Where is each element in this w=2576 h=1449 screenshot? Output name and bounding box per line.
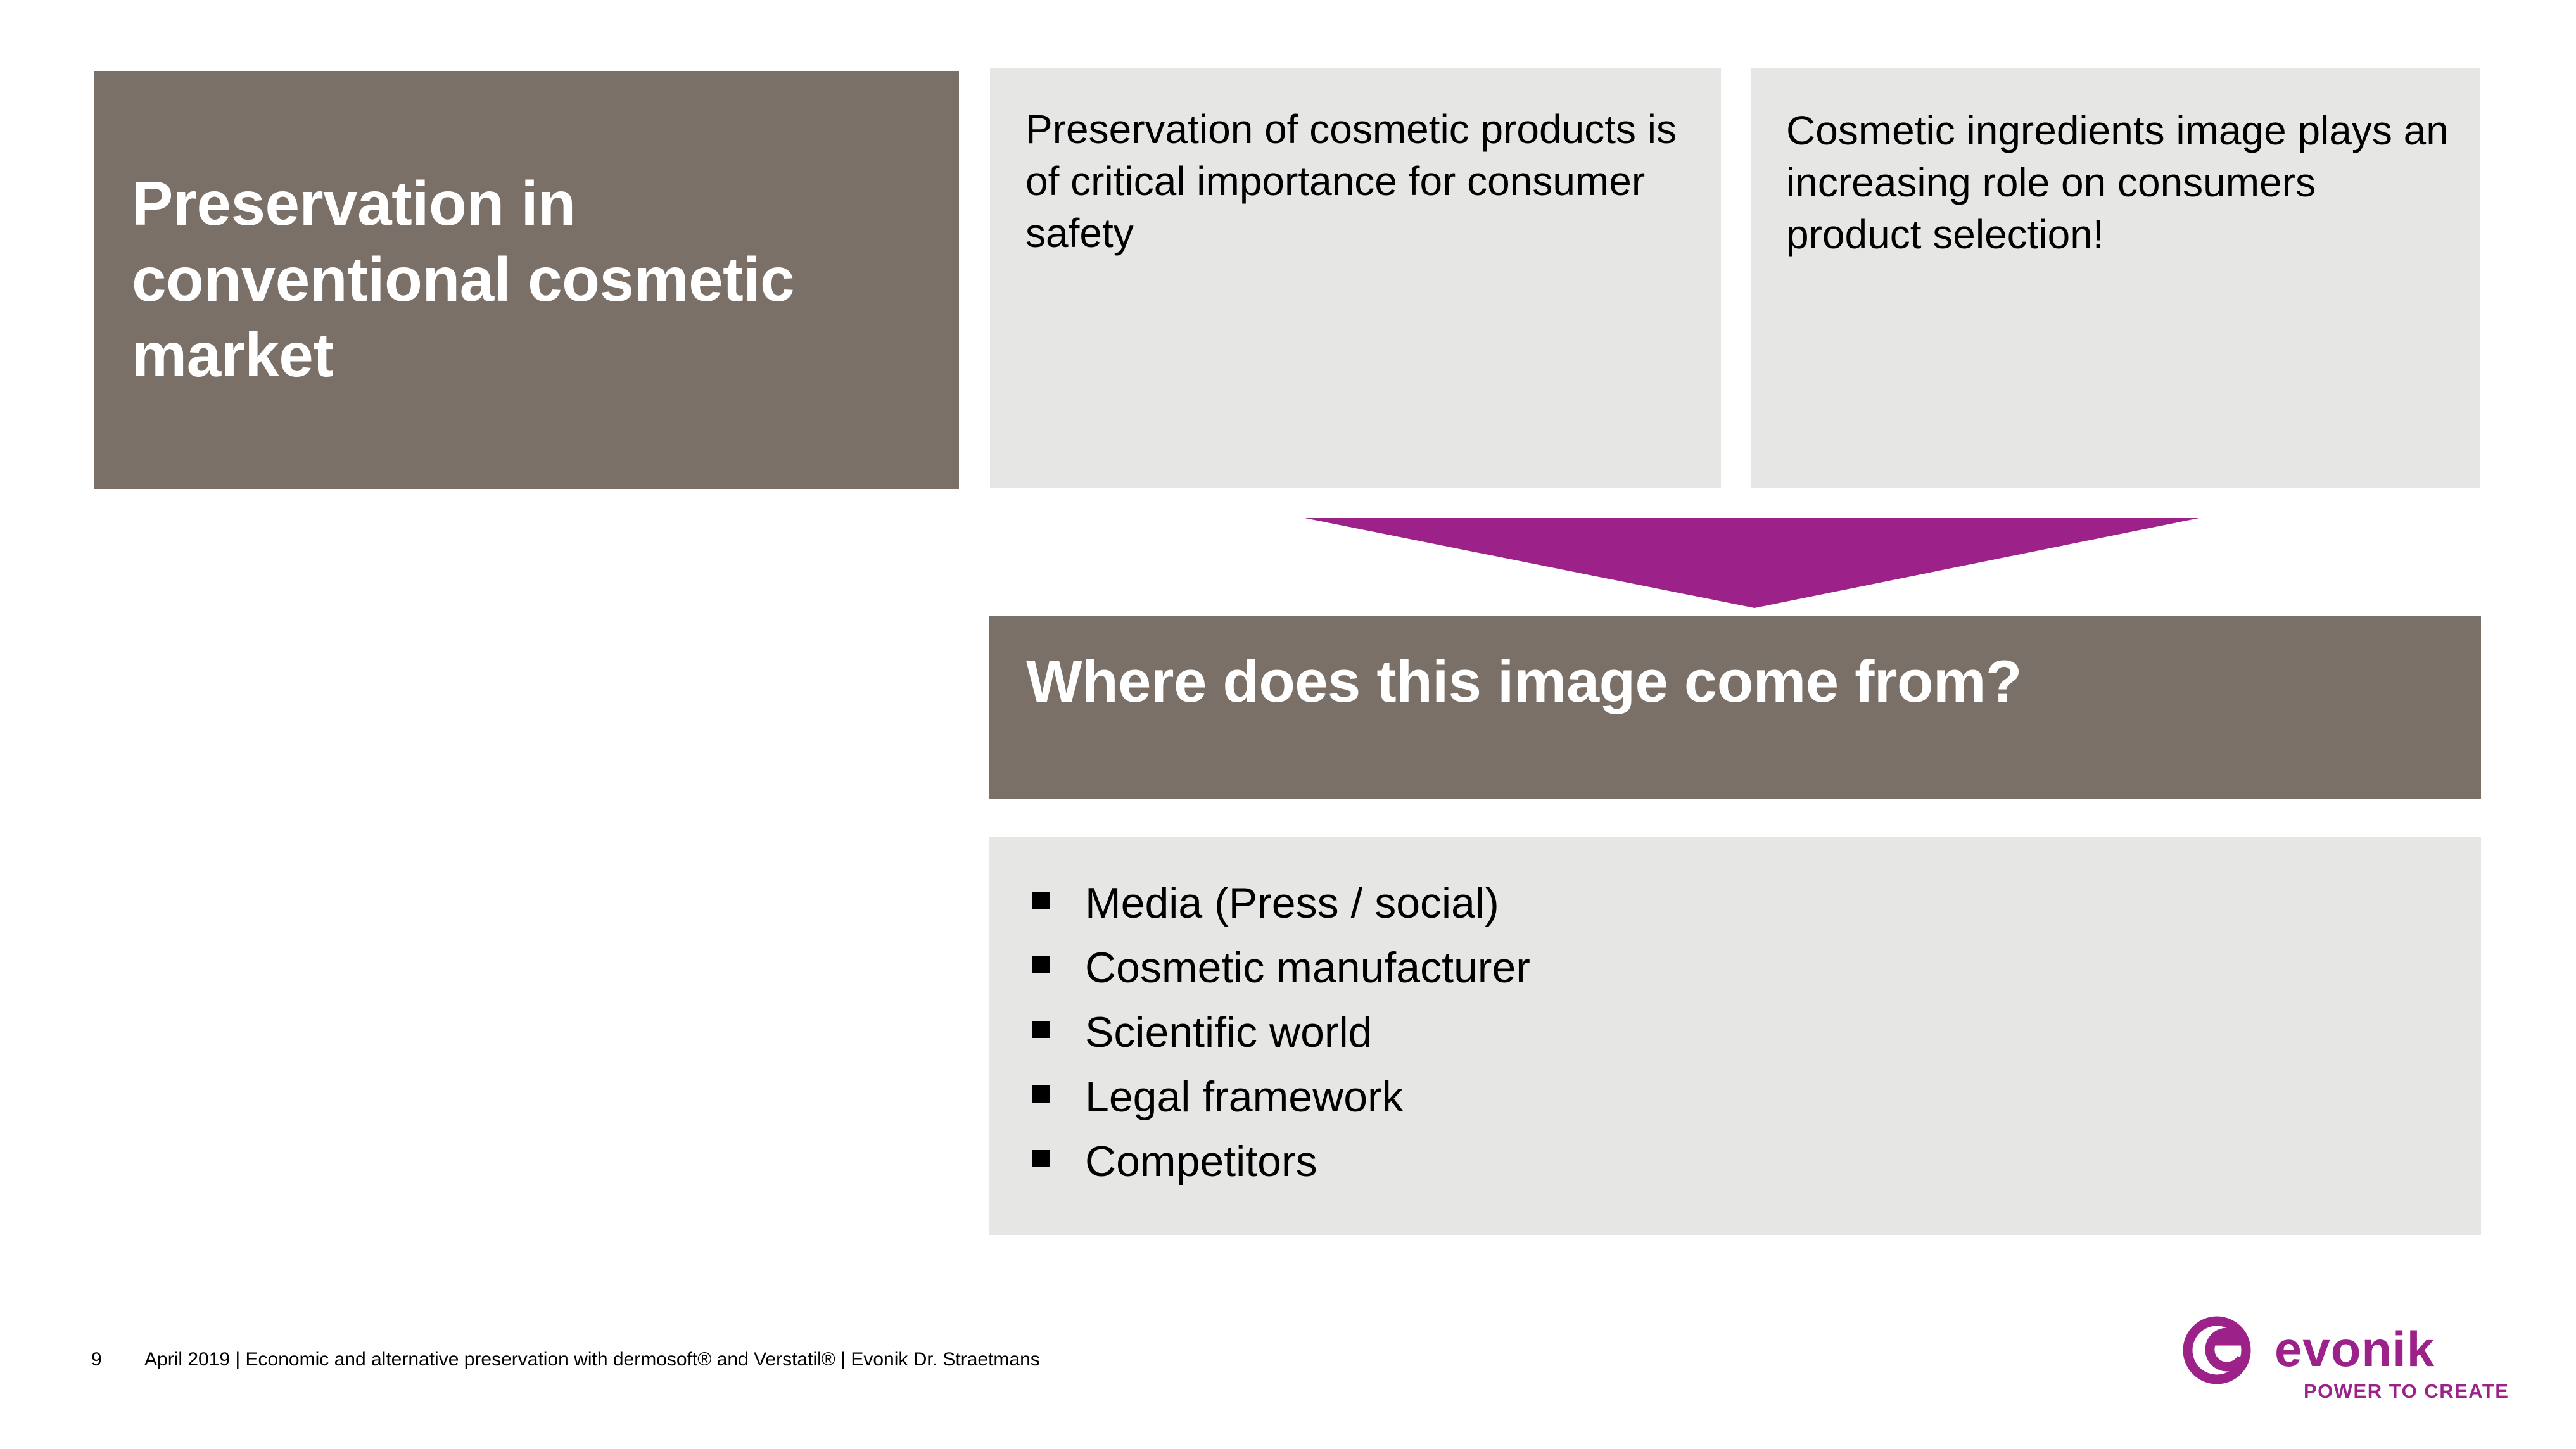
square-bullet-icon [1032, 1150, 1050, 1167]
source-list: Media (Press / social) Cosmetic manufact… [1032, 882, 1530, 1205]
down-arrow-icon [1305, 514, 2199, 608]
info-card-preservation: Preservation of cosmetic products is of … [990, 68, 1721, 488]
title-card: Preservation in conventional cosmetic ma… [94, 71, 959, 489]
info-card-ingredients-image-text: Cosmetic ingredients image plays an incr… [1786, 105, 2454, 261]
svg-text:evonik: evonik [2275, 1321, 2435, 1377]
square-bullet-icon [1032, 1021, 1050, 1038]
footer-text: April 2019 | Economic and alternative pr… [144, 1349, 1040, 1370]
list-item-label: Scientific world [1085, 1011, 1373, 1054]
list-item: Cosmetic manufacturer [1032, 946, 1530, 1011]
question-banner-text: Where does this image come from? [1026, 647, 2022, 716]
list-item: Legal framework [1032, 1075, 1530, 1140]
evonik-e-mark-icon [2188, 1321, 2246, 1379]
square-bullet-icon [1032, 1085, 1050, 1103]
info-card-preservation-text: Preservation of cosmetic products is of … [1025, 104, 1696, 260]
square-bullet-icon [1032, 892, 1050, 909]
list-item-label: Competitors [1085, 1140, 1317, 1183]
svg-text:POWER TO CREATE: POWER TO CREATE [2304, 1380, 2509, 1402]
list-item: Competitors [1032, 1140, 1530, 1205]
square-bullet-icon [1032, 956, 1050, 973]
slide-canvas: Preservation in conventional cosmetic ma… [0, 0, 2576, 1449]
source-list-panel: Media (Press / social) Cosmetic manufact… [989, 837, 2481, 1235]
list-item: Media (Press / social) [1032, 882, 1530, 946]
info-card-ingredients-image: Cosmetic ingredients image plays an incr… [1751, 68, 2480, 488]
evonik-logo: evonik POWER TO CREATE [2181, 1314, 2510, 1406]
list-item-label: Cosmetic manufacturer [1085, 946, 1530, 989]
list-item: Scientific world [1032, 1011, 1530, 1075]
page-title: Preservation in conventional cosmetic ma… [132, 166, 930, 393]
list-item-label: Media (Press / social) [1085, 882, 1499, 925]
list-item-label: Legal framework [1085, 1075, 1404, 1118]
question-banner: Where does this image come from? [989, 616, 2481, 799]
page-number: 9 [91, 1349, 102, 1370]
